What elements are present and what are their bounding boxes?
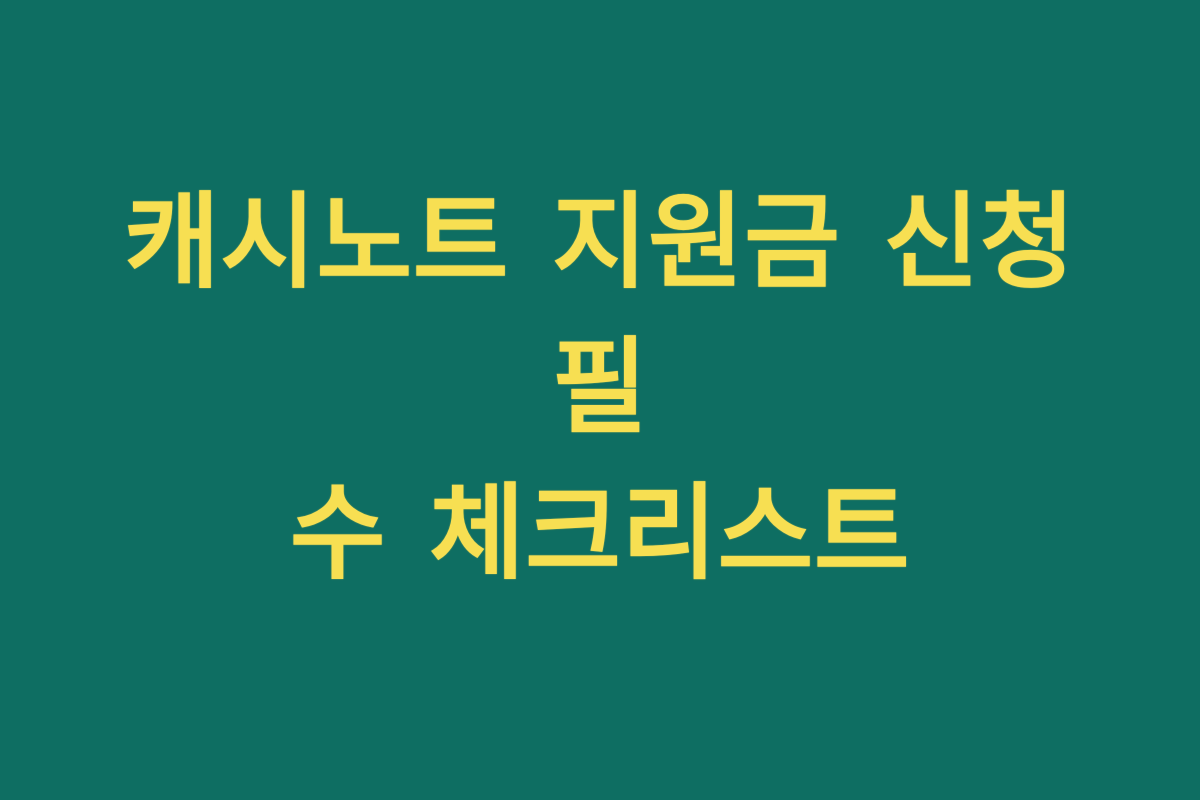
title-card: 캐시노트 지원금 신청 필 수 체크리스트 — [0, 0, 1200, 800]
page-title: 캐시노트 지원금 신청 필 수 체크리스트 — [70, 170, 1130, 607]
title-block: 캐시노트 지원금 신청 필 수 체크리스트 — [70, 170, 1130, 607]
